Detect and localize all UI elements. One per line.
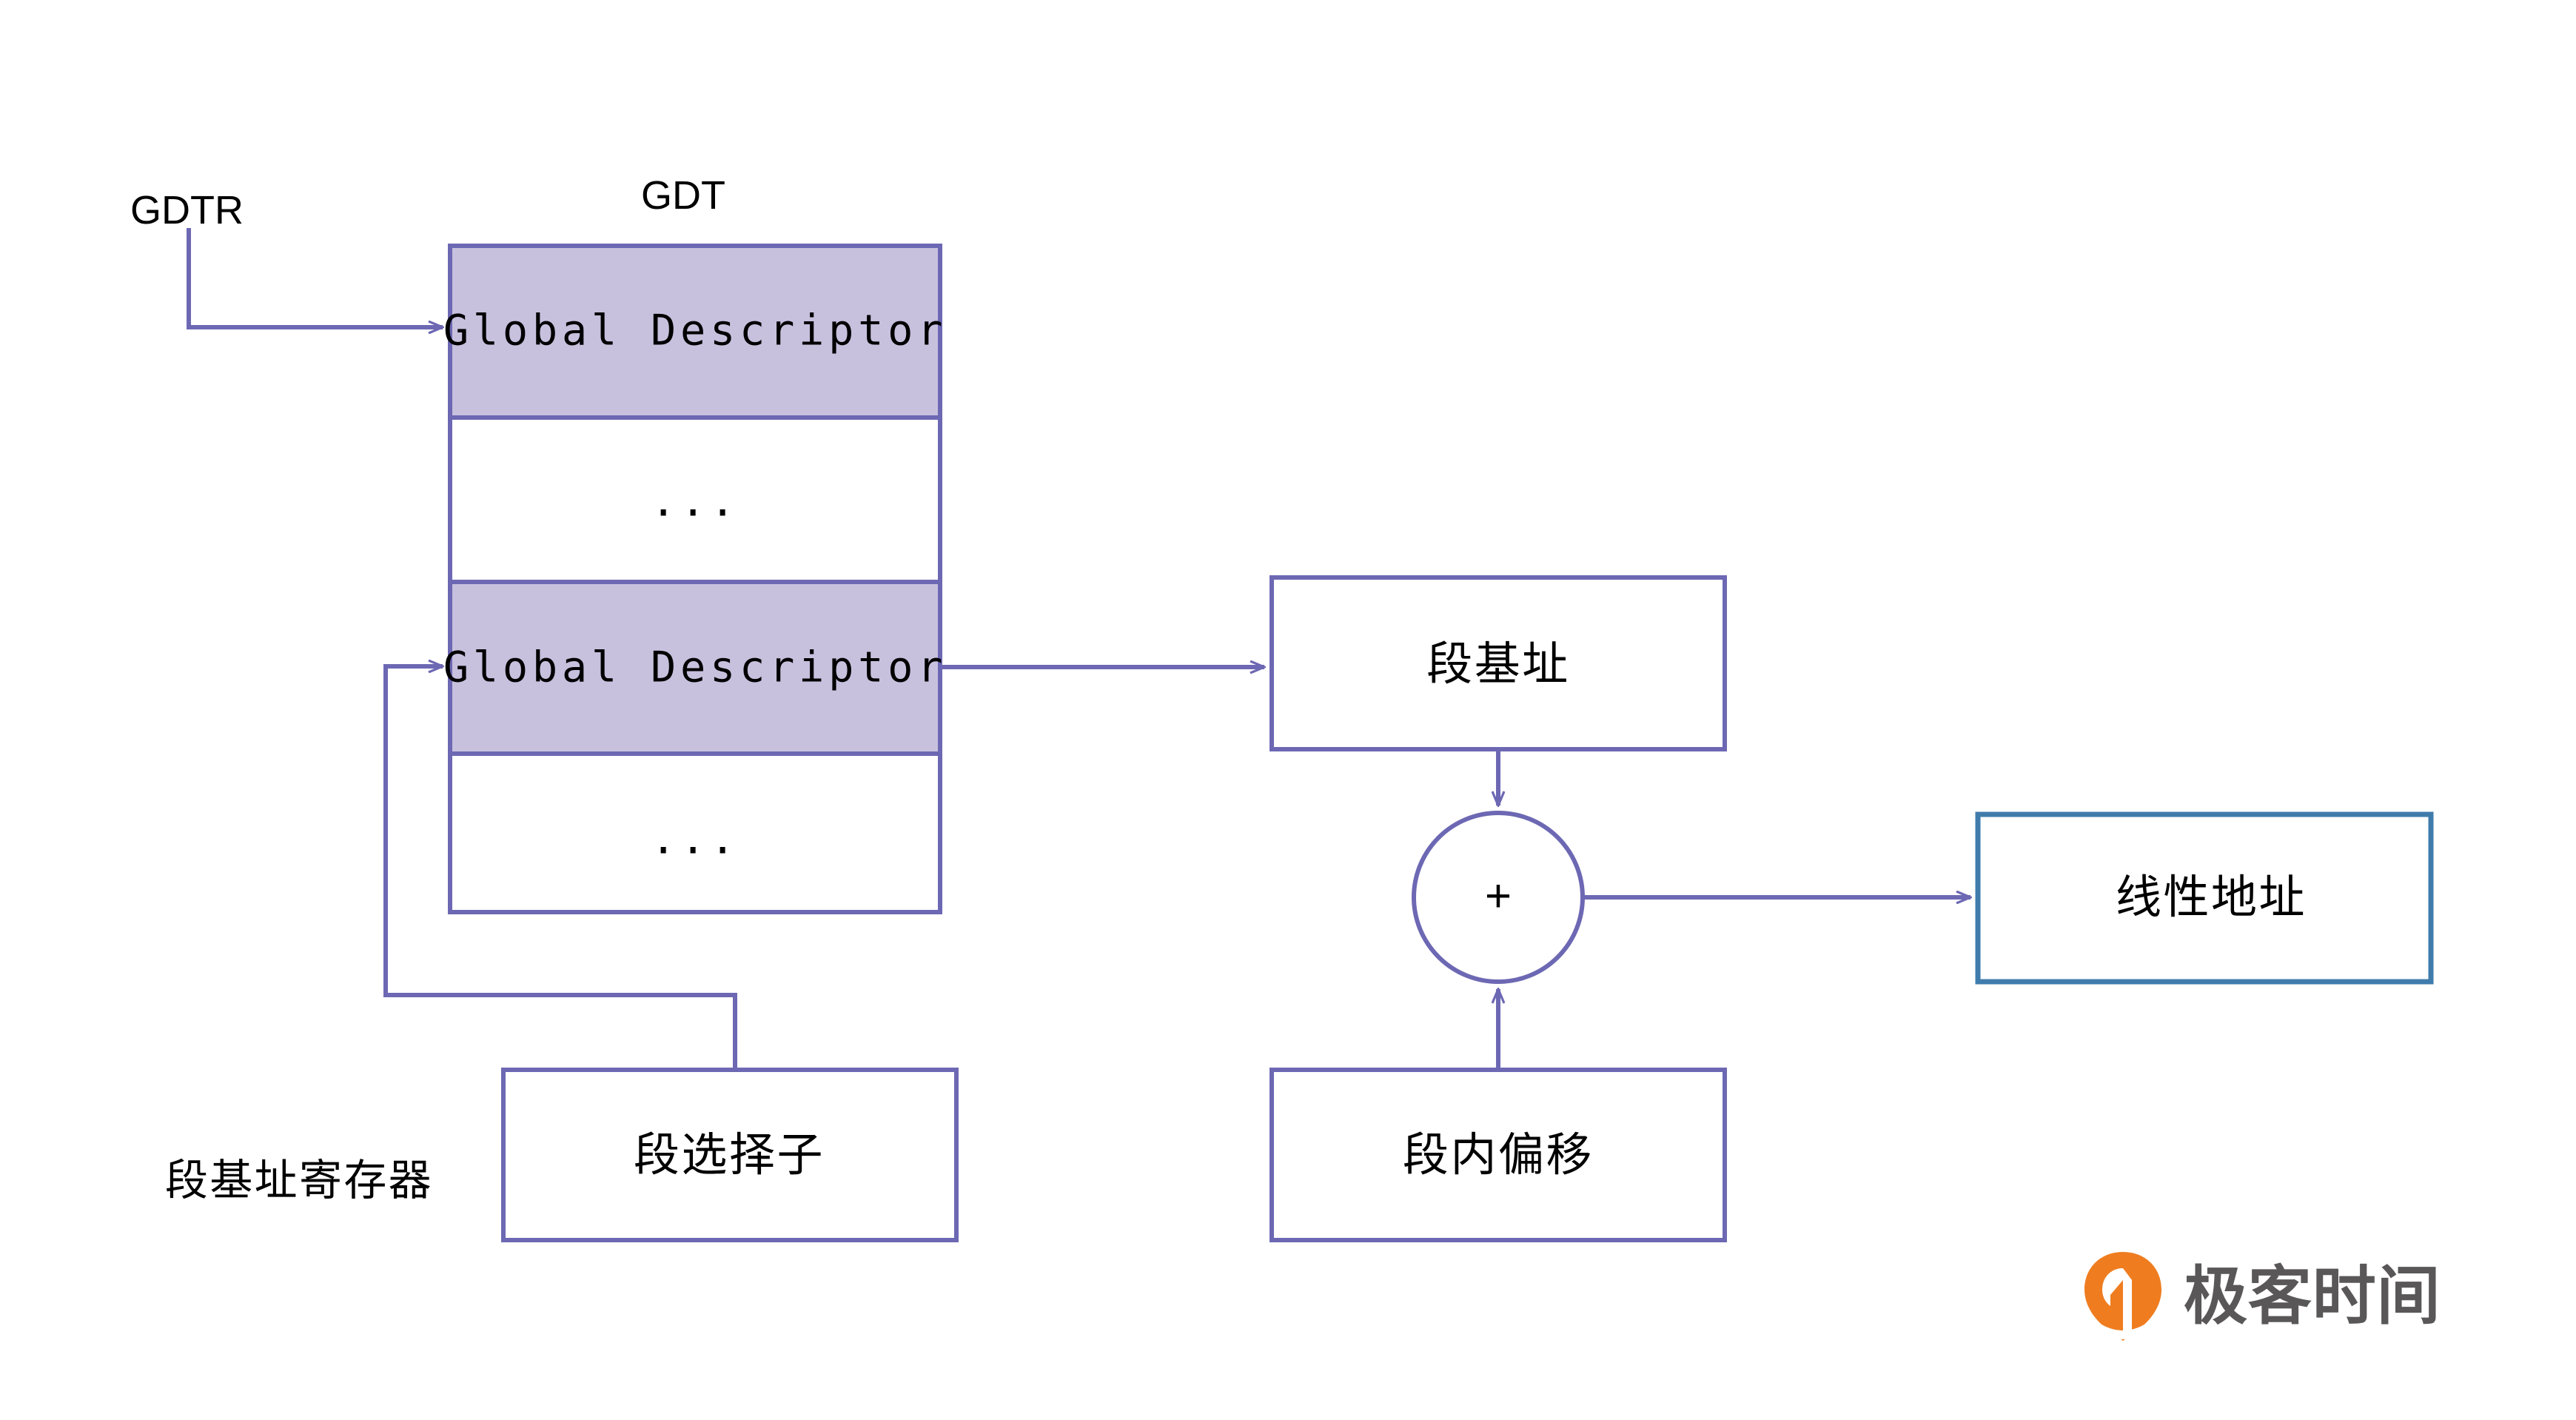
gdt-row-1-label: ... (651, 481, 739, 523)
seg-selector-label: 段选择子 (634, 1132, 825, 1178)
gdtr-label: GDTR (130, 190, 244, 230)
seg-base-label: 段基址 (1426, 641, 1569, 687)
brand-logo: 极客时间 (2082, 1248, 2441, 1344)
brand-wordmark: 极客时间 (2184, 1265, 2441, 1328)
adder-operator-label: + (1485, 874, 1512, 920)
seg-base-register-label: 段基址寄存器 (165, 1159, 433, 1202)
gdt-row-2-label: Global Descriptor (443, 647, 947, 689)
seg-offset-label: 段内偏移 (1403, 1132, 1594, 1178)
geektime-logo-icon (2082, 1250, 2164, 1342)
gdtr-connector (189, 228, 443, 327)
linear-address-label: 线性地址 (2116, 874, 2307, 920)
gdt-row-0-label: Global Descriptor (443, 310, 947, 352)
diagram-vector-layer (0, 0, 2576, 1420)
diagram-canvas: GDTR GDT Global Descriptor ... Global De… (0, 0, 2576, 1420)
gdt-label: GDT (641, 175, 725, 215)
gdt-row-3-label: ... (651, 819, 739, 861)
